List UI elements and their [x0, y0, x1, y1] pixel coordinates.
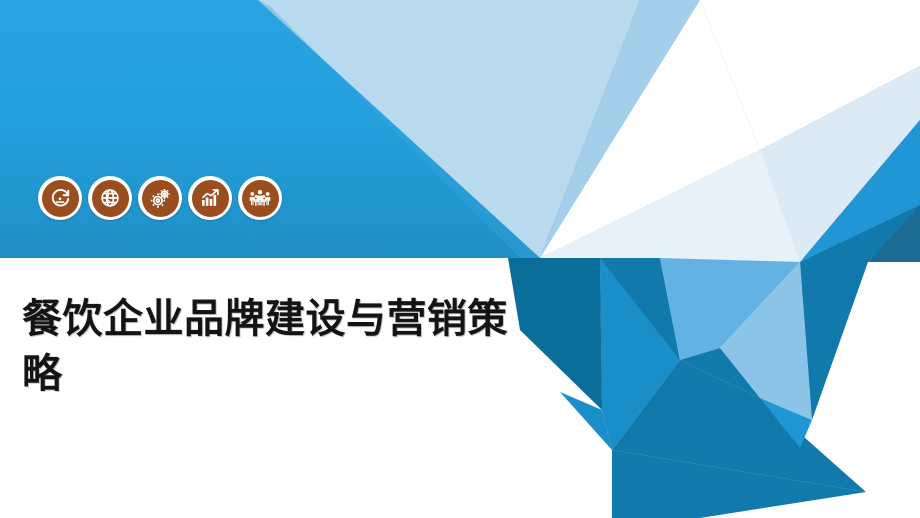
- icon-badge-bar-chart-growth[interactable]: [188, 176, 232, 220]
- bar-chart-growth-icon: [192, 180, 229, 217]
- gears-icon: [142, 180, 179, 217]
- globe-icon: [92, 180, 129, 217]
- icon-badge-globe[interactable]: [88, 176, 132, 220]
- icon-badge-people-group[interactable]: [238, 176, 282, 220]
- low-poly-artwork: [0, 0, 920, 518]
- people-group-icon: [242, 180, 279, 217]
- slide-tagline: 数智创新 变革未来: [721, 26, 904, 56]
- icon-badge-refresh-cycle[interactable]: [38, 176, 82, 220]
- icon-badge-gears[interactable]: [138, 176, 182, 220]
- presentation-slide: 数智创新 变革未来: [0, 0, 920, 518]
- icon-strip: [38, 176, 282, 220]
- slide-title: 餐饮企业品牌建设与营销策略: [22, 292, 522, 402]
- refresh-cycle-icon: [42, 180, 79, 217]
